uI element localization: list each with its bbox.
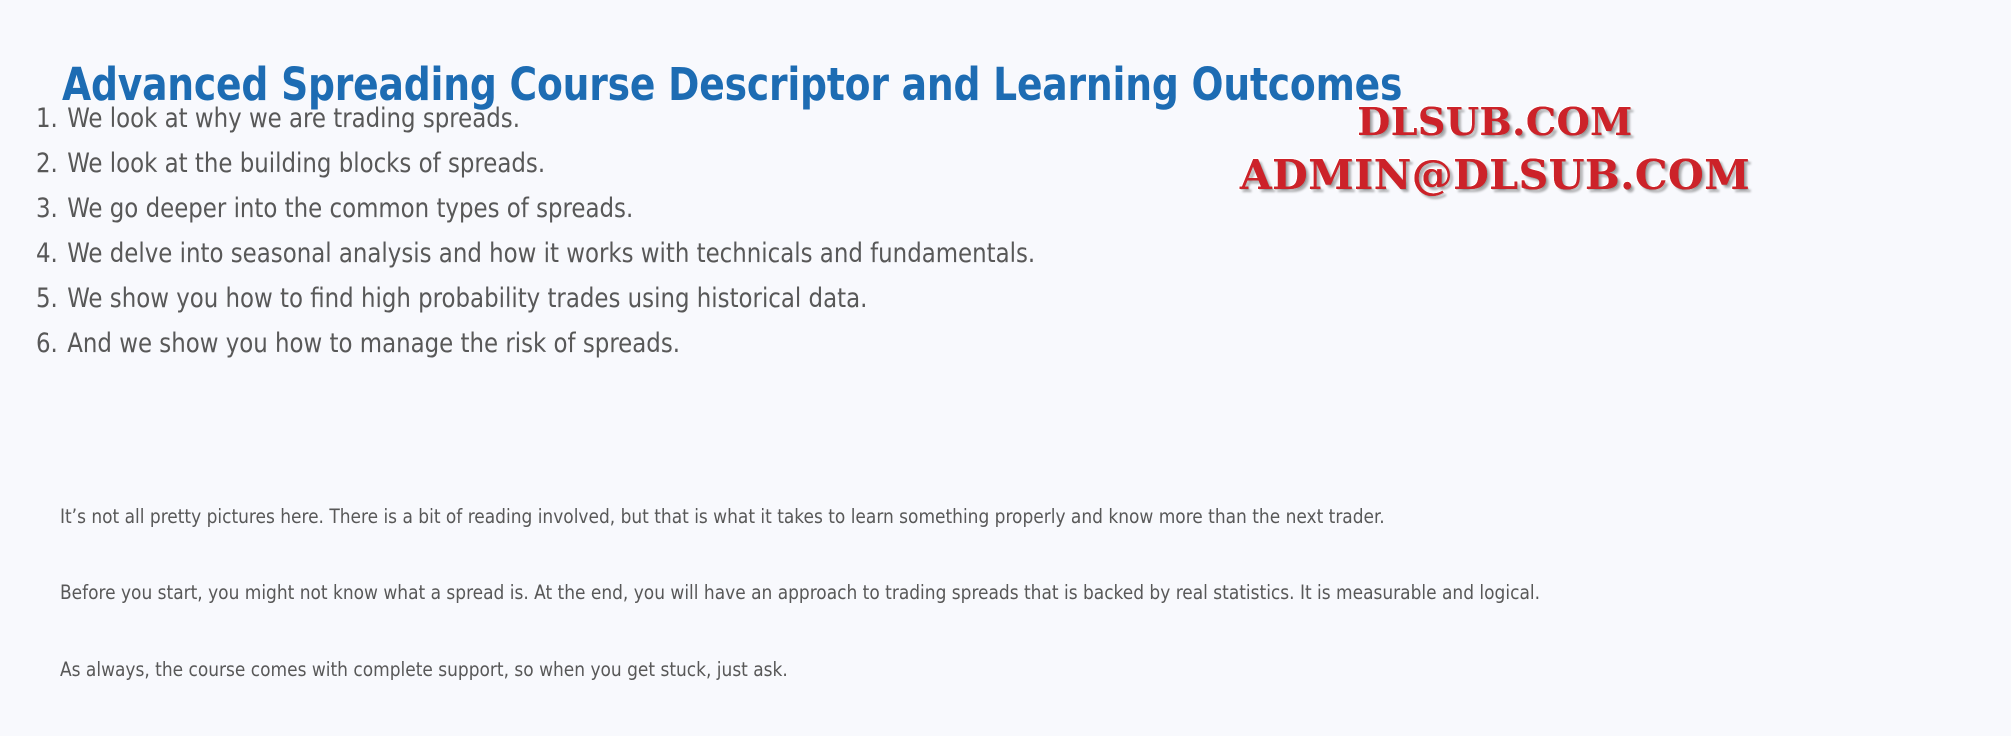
note-paragraph: As always, the course comes with complet…: [60, 660, 1540, 717]
list-item-marker: 6.: [36, 331, 60, 358]
list-item: 5. We show you how to find high probabil…: [36, 286, 1035, 331]
list-item-label: We delve into seasonal analysis and how …: [67, 238, 1035, 269]
note-paragraph: It’s not all pretty pictures here. There…: [60, 507, 1540, 564]
list-item-label: We look at the building blocks of spread…: [67, 148, 545, 179]
list-item-marker: 2.: [36, 151, 60, 178]
list-item-marker: 1.: [36, 106, 60, 133]
document-page: Advanced Spreading Course Descriptor and…: [0, 0, 2011, 668]
list-item: 4. We delve into seasonal analysis and h…: [36, 241, 1035, 286]
list-item: 6. And we show you how to manage the ris…: [36, 331, 1035, 376]
watermark: DLSUB.COM DLSUB.COM ADMIN@DLSUB.COM ADMI…: [1030, 103, 1960, 211]
list-item-label: We go deeper into the common types of sp…: [67, 193, 633, 224]
watermark-email-text: ADMIN@DLSUB.COM: [1240, 151, 1750, 199]
watermark-email-line: ADMIN@DLSUB.COM ADMIN@DLSUB.COM: [1030, 155, 1960, 211]
notes-section: It’s not all pretty pictures here. There…: [60, 487, 1586, 736]
list-item-label: We look at why we are trading spreads.: [67, 103, 520, 134]
watermark-email-text-fill: ADMIN@DLSUB.COM: [1240, 155, 1750, 196]
list-item: 2. We look at the building blocks of spr…: [36, 151, 1035, 196]
list-item-label: And we show you how to manage the risk o…: [67, 328, 680, 359]
list-item: 1. We look at why we are trading spreads…: [36, 106, 1035, 151]
list-item-marker: 5.: [36, 286, 60, 313]
list-item-marker: 4.: [36, 241, 60, 268]
list-item-marker: 3.: [36, 196, 60, 223]
note-paragraph: Before you start, you might not know wha…: [60, 583, 1540, 640]
learning-outcomes-list: 1. We look at why we are trading spreads…: [36, 106, 1077, 376]
list-item-label: We show you how to find high probability…: [67, 283, 867, 314]
list-item: 3. We go deeper into the common types of…: [36, 196, 1035, 241]
